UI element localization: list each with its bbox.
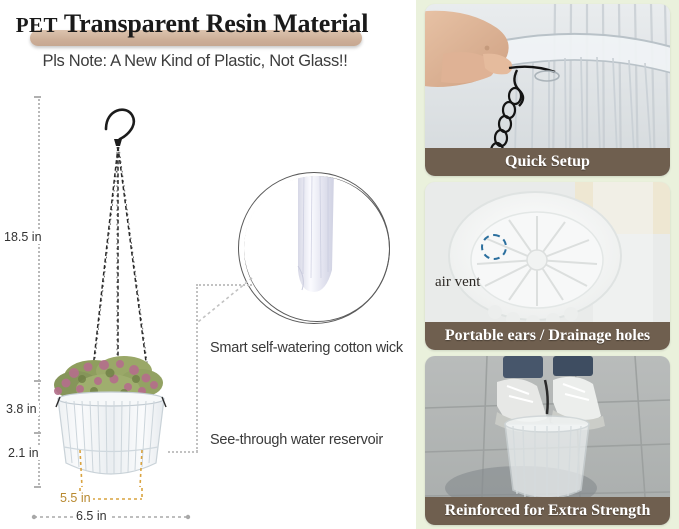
photo-card-quick-setup: Quick Setup xyxy=(425,4,670,176)
dim-label-outer-diameter: 6.5 in xyxy=(74,509,109,523)
chain-group xyxy=(92,147,148,377)
caption-strength: Reinforced for Extra Strength xyxy=(425,497,670,525)
leader-branch-bottom xyxy=(168,451,198,453)
left-diagram-panel: PET Transparent Resin Material Pls Note:… xyxy=(0,0,416,529)
dim-label-inner-diameter: 5.5 in xyxy=(58,491,93,505)
wick-zoom-callout xyxy=(238,172,394,328)
air-vent-label: air vent xyxy=(435,274,480,291)
leader-vertical xyxy=(196,284,198,452)
hook-ferrule xyxy=(114,139,122,146)
pot-body xyxy=(58,399,164,474)
annotation-wick: Smart self-watering cotton wick xyxy=(210,340,403,356)
air-vent-circle-icon xyxy=(481,234,507,260)
width-dimensions xyxy=(18,470,238,529)
cotton-wick-image xyxy=(240,174,392,326)
caption-drainage: Portable ears / Drainage holes xyxy=(425,322,670,350)
dim-label-body-height: 3.8 in xyxy=(4,402,39,416)
leader-branch-top xyxy=(196,284,252,286)
caption-quick-setup: Quick Setup xyxy=(425,148,670,176)
title-block: PET Transparent Resin Material xyxy=(12,6,372,48)
photo-card-drainage: air vent Portable ears / Drainage holes xyxy=(425,182,670,350)
photo-card-strength: Reinforced for Extra Strength xyxy=(425,356,670,525)
hook-icon xyxy=(106,110,134,141)
leader-diagonal xyxy=(190,276,260,346)
annotation-reservoir: See-through water reservoir xyxy=(210,432,383,448)
title-rest: Transparent Resin Material xyxy=(58,9,368,38)
clear-pot-under-foot xyxy=(505,416,589,501)
subtitle-note: Pls Note: A New Kind of Plastic, Not Gla… xyxy=(0,52,390,71)
right-photo-panel: Quick Setup xyxy=(416,0,679,529)
dim-label-total-height: 18.5 in xyxy=(2,230,44,244)
title-lead: PET xyxy=(16,13,58,37)
product-infographic: PET Transparent Resin Material Pls Note:… xyxy=(0,0,679,529)
page-title: PET Transparent Resin Material xyxy=(12,6,372,43)
